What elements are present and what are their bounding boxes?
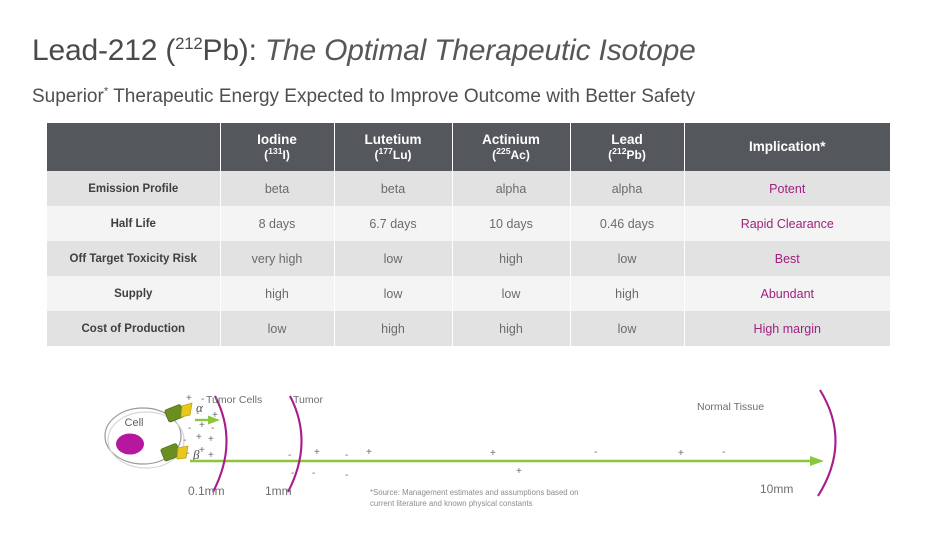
distance-label-10mm: 10mm <box>760 482 793 496</box>
page-title: Lead-212 (212Pb): The Optimal Therapeuti… <box>32 34 696 68</box>
column-header-lutetium: Lutetium (177Lu) <box>334 123 452 171</box>
row-label-emission-profile: Emission Profile <box>47 171 220 206</box>
region-label-normal-tissue: Normal Tissue <box>697 401 764 413</box>
charge-symbol: - <box>288 450 291 461</box>
subtitle-after-text: Therapeutic Energy Expected to Improve O… <box>108 86 695 107</box>
title-superscript-212: 212 <box>175 34 202 53</box>
cell-cost-lead: low <box>570 311 684 346</box>
charge-symbol: - <box>196 408 199 419</box>
charge-symbol: - <box>345 470 348 481</box>
column-header-lead-isotope: (212Pb) <box>571 148 684 162</box>
cell-cost-actinium: high <box>452 311 570 346</box>
cell-emission-lead: alpha <box>570 171 684 206</box>
column-header-iodine-name: Iodine <box>257 132 297 147</box>
charge-symbol: - <box>183 435 186 446</box>
cell-cost-implication: High margin <box>684 311 890 346</box>
cell-emission-actinium: alpha <box>452 171 570 206</box>
cell-emission-iodine: beta <box>220 171 334 206</box>
distance-label-0-1mm: 0.1mm <box>188 484 225 498</box>
region-label-tumor: Tumor <box>293 394 323 406</box>
charge-symbol: + <box>208 434 214 445</box>
footnote-line-1: *Source: Management estimates and assump… <box>370 487 640 498</box>
charge-symbol: + <box>366 447 372 458</box>
subtitle-before-text: Superior <box>32 86 104 107</box>
cell-halflife-lead: 0.46 days <box>570 206 684 241</box>
row-label-off-target-toxicity-risk: Off Target Toxicity Risk <box>47 241 220 276</box>
table-row: Off Target Toxicity Risk very high low h… <box>47 241 890 276</box>
column-header-blank <box>47 123 220 171</box>
cell-halflife-actinium: 10 days <box>452 206 570 241</box>
cell-nucleus-icon <box>116 434 144 455</box>
charge-symbol: - <box>201 394 204 405</box>
column-header-implication: Implication* <box>684 123 890 171</box>
charge-symbol: + <box>208 450 214 461</box>
cell-supply-implication: Abundant <box>684 276 890 311</box>
title-pb-text: Pb): <box>203 34 265 67</box>
cell-toxicity-lead: low <box>570 241 684 276</box>
column-header-lutetium-isotope: (177Lu) <box>335 148 452 162</box>
cell-supply-actinium: low <box>452 276 570 311</box>
row-label-cost-of-production: Cost of Production <box>47 311 220 346</box>
charge-symbol: - <box>312 468 315 479</box>
table-row: Cost of Production low high high low Hig… <box>47 311 890 346</box>
row-label-supply: Supply <box>47 276 220 311</box>
isotope-comparison-table: Iodine (131I) Lutetium (177Lu) Actinium … <box>47 123 890 346</box>
cell-label: Cell <box>125 417 144 429</box>
charge-symbol: + <box>490 448 496 459</box>
charge-symbol: + <box>186 393 192 404</box>
column-header-lead-name: Lead <box>611 132 643 147</box>
column-header-actinium-isotope: (225Ac) <box>453 148 570 162</box>
charge-symbol: - <box>211 423 214 434</box>
cell-cost-lutetium: high <box>334 311 452 346</box>
charge-symbol: - <box>594 447 597 458</box>
cell-cost-iodine: low <box>220 311 334 346</box>
column-header-iodine-isotope: (131I) <box>221 148 334 162</box>
charge-symbol: - <box>722 447 725 458</box>
charge-symbol: + <box>212 410 218 421</box>
charge-symbol: + <box>516 466 522 477</box>
cell-toxicity-implication: Best <box>684 241 890 276</box>
cell-halflife-iodine: 8 days <box>220 206 334 241</box>
cell-toxicity-iodine: very high <box>220 241 334 276</box>
column-header-actinium: Actinium (225Ac) <box>452 123 570 171</box>
distance-label-1mm: 1mm <box>265 484 292 498</box>
charge-symbol: + <box>314 447 320 458</box>
source-footnote: *Source: Management estimates and assump… <box>370 487 640 510</box>
table-row: Emission Profile beta beta alpha alpha P… <box>47 171 890 206</box>
row-label-half-life: Half Life <box>47 206 220 241</box>
region-label-tumor-cells: Tumor Cells <box>206 394 262 406</box>
cell-halflife-lutetium: 6.7 days <box>334 206 452 241</box>
table-row: Half Life 8 days 6.7 days 10 days 0.46 d… <box>47 206 890 241</box>
cell-emission-implication: Potent <box>684 171 890 206</box>
receptor-alpha-icon <box>164 403 192 422</box>
title-lead-text: Lead-212 ( <box>32 34 175 67</box>
cell-emission-lutetium: beta <box>334 171 452 206</box>
charge-symbol: - <box>188 423 191 434</box>
cell-supply-lutetium: low <box>334 276 452 311</box>
title-italic-text: The Optimal Therapeutic Isotope <box>265 34 696 67</box>
arc-normal-tissue <box>818 390 836 496</box>
charge-symbol: - <box>186 448 189 459</box>
column-header-iodine: Iodine (131I) <box>220 123 334 171</box>
charge-symbol: + <box>196 432 202 443</box>
column-header-actinium-name: Actinium <box>482 132 540 147</box>
cell-supply-lead: high <box>570 276 684 311</box>
charge-symbol: + <box>199 420 205 431</box>
charge-symbol: + <box>199 445 205 456</box>
column-header-lead: Lead (212Pb) <box>570 123 684 171</box>
footnote-line-2: current literature and known physical co… <box>370 498 640 509</box>
cell-toxicity-actinium: high <box>452 241 570 276</box>
column-header-lutetium-name: Lutetium <box>365 132 422 147</box>
page-subtitle: Superior* Therapeutic Energy Expected to… <box>32 86 695 108</box>
charge-symbol: - <box>291 468 294 479</box>
cell-supply-iodine: high <box>220 276 334 311</box>
charge-symbol: + <box>678 448 684 459</box>
cell-toxicity-lutetium: low <box>334 241 452 276</box>
cell-halflife-implication: Rapid Clearance <box>684 206 890 241</box>
charge-symbol: - <box>345 450 348 461</box>
table-header-row: Iodine (131I) Lutetium (177Lu) Actinium … <box>47 123 890 171</box>
beta-range-arrow <box>190 456 824 466</box>
table-row: Supply high low low high Abundant <box>47 276 890 311</box>
